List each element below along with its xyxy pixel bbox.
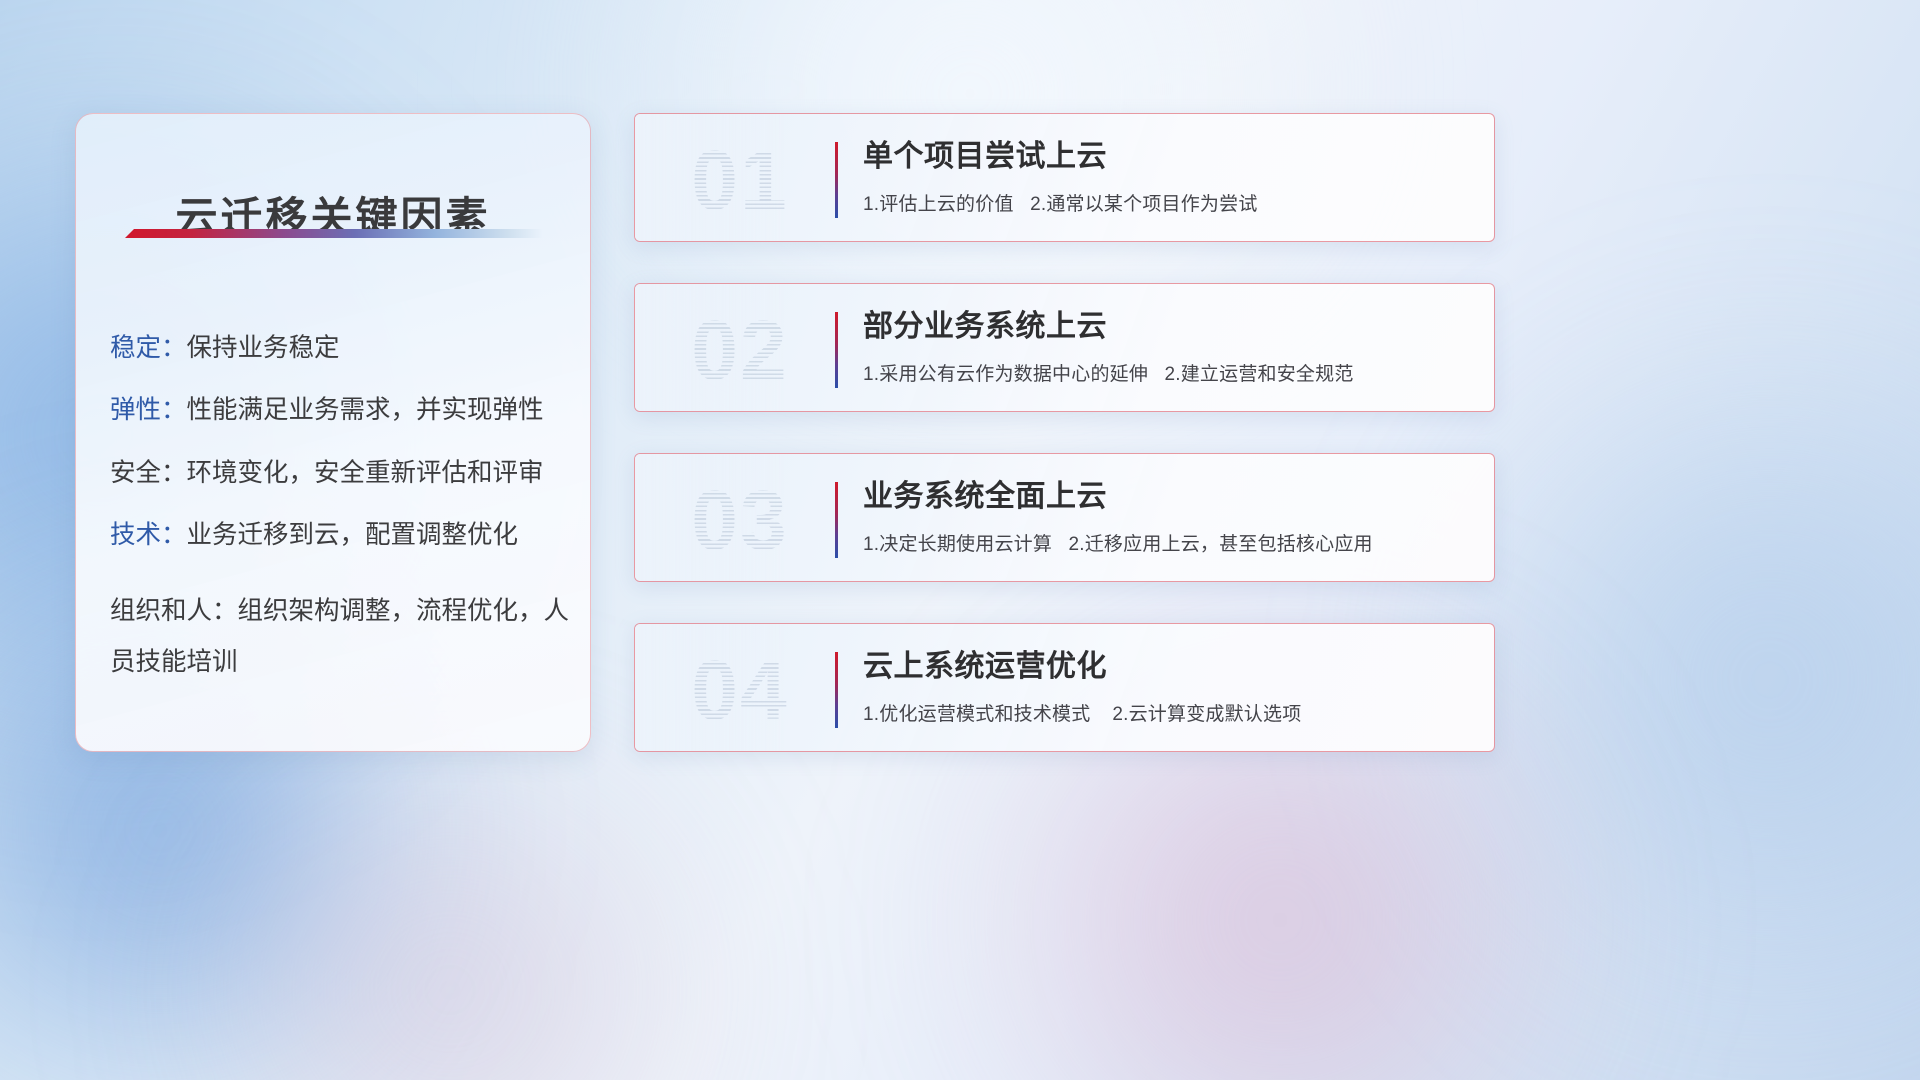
list-item: 安全：环境变化，安全重新评估和评审 [110,461,572,487]
step-body: 部分业务系统上云 1.采用公有云作为数据中心的延伸 2.建立运营和安全规范 [863,308,1474,386]
step-description: 1.评估上云的价值 2.通常以某个项目作为尝试 [863,189,1474,216]
factor-label: 弹性： [110,396,187,424]
step-accent-bar [835,142,838,218]
factor-text: 性能满足业务需求，并实现弹性 [187,396,544,424]
key-factors-list: 稳定：保持业务稳定 弹性：性能满足业务需求，并实现弹性 安全：环境变化，安全重新… [110,310,572,688]
step-accent-bar [835,482,838,558]
step-number: 01 [655,132,825,228]
migration-steps-list: 01 单个项目尝试上云 1.评估上云的价值 2.通常以某个项目作为尝试 02 部… [634,113,1495,793]
factor-label: 技术： [110,521,187,549]
step-number: 04 [655,642,825,738]
key-factors-panel: 云迁移关键因素 稳定：保持业务稳定 弹性：性能满足业务需求，并实现弹性 安全：环… [75,113,591,752]
list-item: 技术：业务迁移到云，配置调整优化 [110,523,572,549]
step-title: 部分业务系统上云 [863,308,1474,346]
step-number: 03 [655,472,825,568]
title-underline-rule [125,229,543,238]
list-item: 弹性：性能满足业务需求，并实现弹性 [110,398,572,424]
step-card[interactable]: 04 云上系统运营优化 1.优化运营模式和技术模式 2.云计算变成默认选项 [634,623,1495,752]
step-title: 单个项目尝试上云 [863,138,1474,176]
slide-canvas: 云迁移关键因素 稳定：保持业务稳定 弹性：性能满足业务需求，并实现弹性 安全：环… [0,0,1920,1080]
list-item: 稳定：保持业务稳定 [110,336,572,362]
step-number: 02 [655,302,825,398]
step-description: 1.采用公有云作为数据中心的延伸 2.建立运营和安全规范 [863,359,1474,386]
step-body: 云上系统运营优化 1.优化运营模式和技术模式 2.云计算变成默认选项 [863,648,1474,726]
step-description: 1.决定长期使用云计算 2.迁移应用上云，甚至包括核心应用 [863,529,1474,556]
factor-text: 保持业务稳定 [187,334,340,362]
step-title: 云上系统运营优化 [863,648,1474,686]
factor-label: 安全： [110,459,187,487]
step-body: 业务系统全面上云 1.决定长期使用云计算 2.迁移应用上云，甚至包括核心应用 [863,478,1474,556]
factor-text: 业务迁移到云，配置调整优化 [187,521,519,549]
step-description: 1.优化运营模式和技术模式 2.云计算变成默认选项 [863,699,1474,726]
step-card[interactable]: 02 部分业务系统上云 1.采用公有云作为数据中心的延伸 2.建立运营和安全规范 [634,283,1495,412]
step-card[interactable]: 01 单个项目尝试上云 1.评估上云的价值 2.通常以某个项目作为尝试 [634,113,1495,242]
step-accent-bar [835,312,838,388]
factor-text: 环境变化，安全重新评估和评审 [187,459,544,487]
step-accent-bar [835,652,838,728]
step-title: 业务系统全面上云 [863,478,1474,516]
list-item: 组织和人：组织架构调整，流程优化，人员技能培训 [110,586,572,688]
factor-label: 组织和人： [110,597,238,625]
step-body: 单个项目尝试上云 1.评估上云的价值 2.通常以某个项目作为尝试 [863,138,1474,216]
factor-label: 稳定： [110,334,187,362]
step-card[interactable]: 03 业务系统全面上云 1.决定长期使用云计算 2.迁移应用上云，甚至包括核心应… [634,453,1495,582]
